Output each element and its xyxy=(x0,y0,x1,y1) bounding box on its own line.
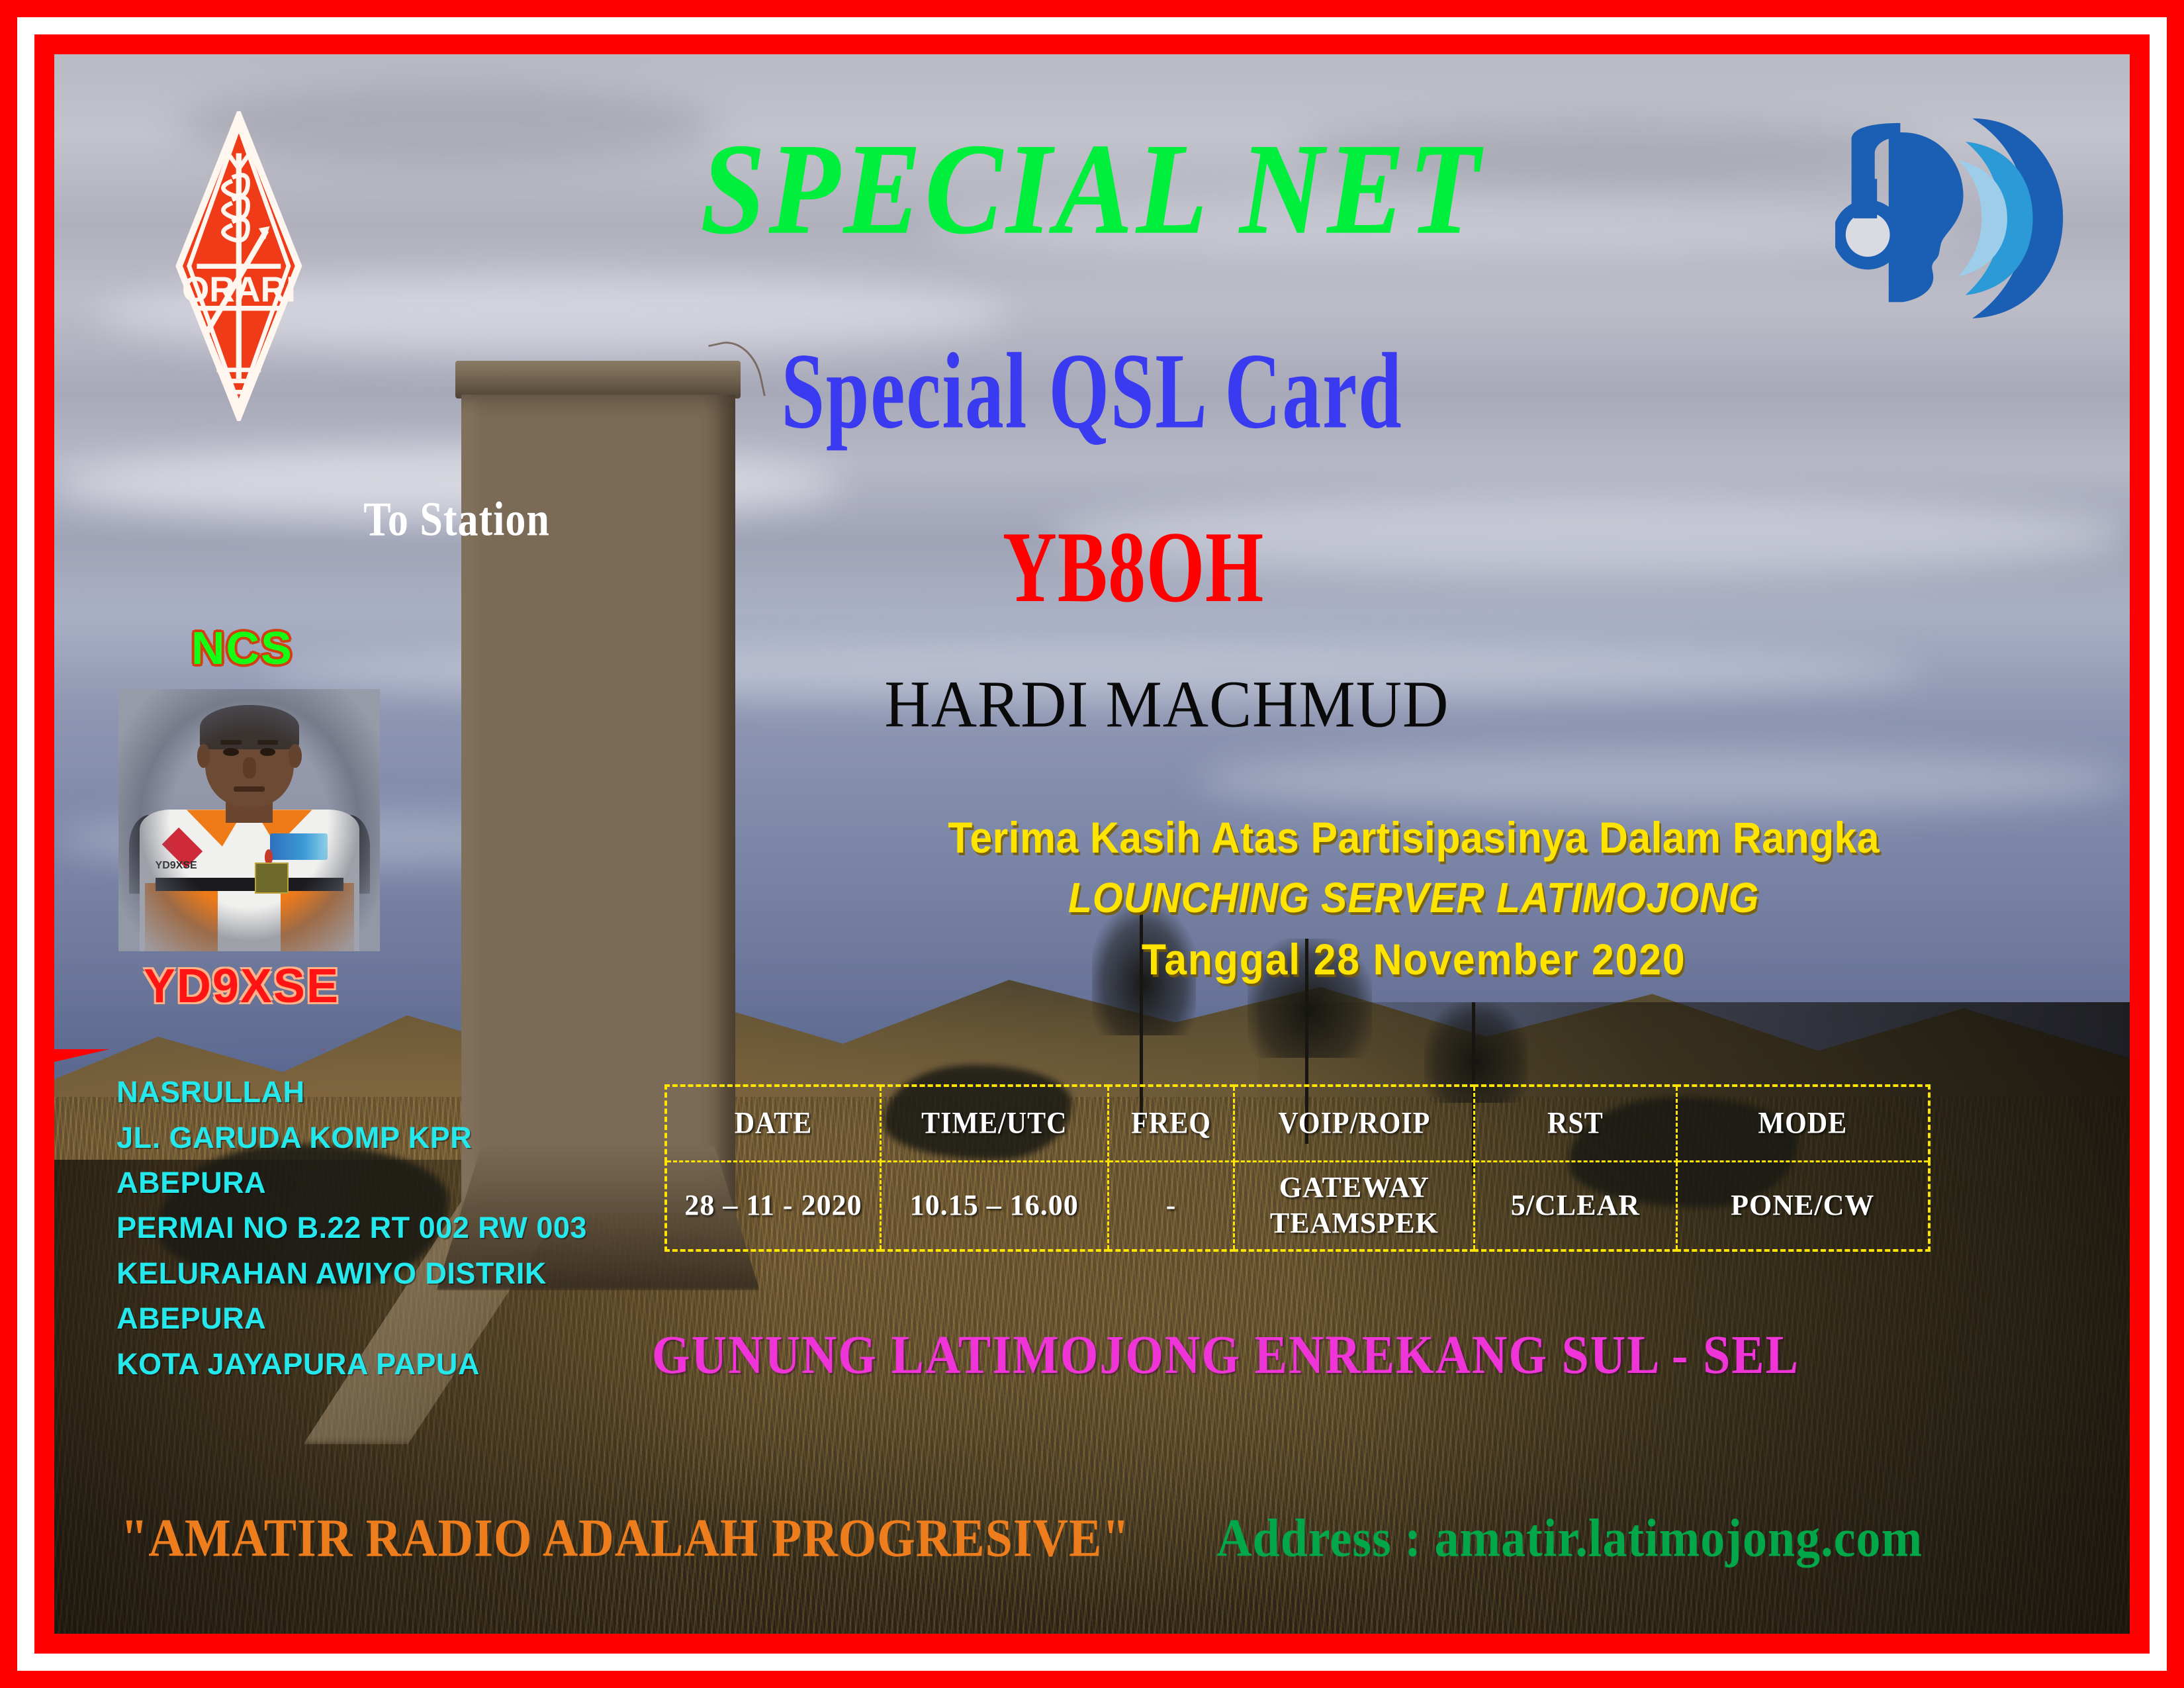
page-title: SPECIAL NET xyxy=(54,115,2130,263)
content-layer: ORARI SPE xyxy=(54,54,2130,1634)
col-header-date: DATE xyxy=(666,1082,881,1165)
operator-name: HARDI MACHMUD xyxy=(884,665,1449,743)
col-header-rst: RST xyxy=(1475,1082,1676,1165)
cell-rst: 5/CLEAR xyxy=(1475,1161,1676,1250)
cell-voip-line-2: TEAMSPEK xyxy=(1236,1205,1473,1241)
address-line: KOTA JAYAPURA PAPUA xyxy=(116,1342,587,1387)
address-line: JL. GARUDA KOMP KPR xyxy=(116,1115,587,1160)
footer-slogan: "AMATIR RADIO ADALAH PROGRESIVE" xyxy=(120,1508,1130,1570)
table-header-row: DATE TIME/UTC FREQ VOIP/ROIP RST MODE xyxy=(666,1086,1929,1161)
qso-table: DATE TIME/UTC FREQ VOIP/ROIP RST MODE 28… xyxy=(664,1084,1931,1252)
page-subtitle: Special QSL Card xyxy=(137,329,2046,453)
operator-portrait-photo: YD9XSE xyxy=(118,689,380,951)
address-line: KELURAHAN AWIYO DISTRIK xyxy=(116,1251,587,1296)
event-text-block: Terima Kasih Atas Partisipasinya Dalam R… xyxy=(770,812,2057,984)
address-line: NASRULLAH xyxy=(116,1070,587,1115)
cell-voip-roip: GATEWAY TEAMSPEK xyxy=(1234,1161,1475,1250)
qsl-card: ORARI SPE xyxy=(0,0,2184,1688)
location-text: GUNUNG LATIMOJONG ENREKANG SUL - SEL xyxy=(652,1324,1799,1387)
cell-mode: PONE/CW xyxy=(1676,1161,1929,1250)
address-line: ABEPURA xyxy=(116,1160,587,1205)
ncs-callsign: YD9XSE xyxy=(144,959,340,1013)
event-line-2: LOUNCHING SERVER LATIMOJONG xyxy=(822,873,2006,922)
cell-date: 28 – 11 - 2020 xyxy=(666,1161,881,1250)
col-header-voip-roip: VOIP/ROIP xyxy=(1234,1082,1475,1165)
address-line: PERMAI NO B.22 RT 002 RW 003 xyxy=(116,1205,587,1250)
station-callsign: YB8OH xyxy=(1003,510,1264,626)
cell-freq: - xyxy=(1108,1161,1234,1250)
event-line-3: Tanggal 28 November 2020 xyxy=(822,934,2006,984)
ncs-label: NCS xyxy=(191,622,293,675)
orari-logo-text: ORARI xyxy=(182,270,296,309)
address-block: NASRULLAH JL. GARUDA KOMP KPR ABEPURA PE… xyxy=(116,1070,587,1387)
uniform-callsign-patch: YD9XSE xyxy=(156,860,197,872)
event-line-1: Terima Kasih Atas Partisipasinya Dalam R… xyxy=(822,812,2006,863)
cell-time: 10.15 – 16.00 xyxy=(880,1161,1108,1250)
col-header-mode: MODE xyxy=(1676,1082,1929,1165)
address-line: ABEPURA xyxy=(116,1296,587,1341)
footer-website: Address : amatir.latimojong.com xyxy=(1216,1508,1923,1570)
col-header-freq: FREQ xyxy=(1108,1082,1234,1165)
cell-voip-line-1: GATEWAY xyxy=(1236,1170,1473,1205)
table-row: 28 – 11 - 2020 10.15 – 16.00 - GATEWAY T… xyxy=(666,1161,1929,1250)
col-header-time: TIME/UTC xyxy=(880,1082,1108,1165)
to-station-label: To Station xyxy=(363,492,550,548)
card-photo-area: ORARI SPE xyxy=(54,54,2130,1634)
